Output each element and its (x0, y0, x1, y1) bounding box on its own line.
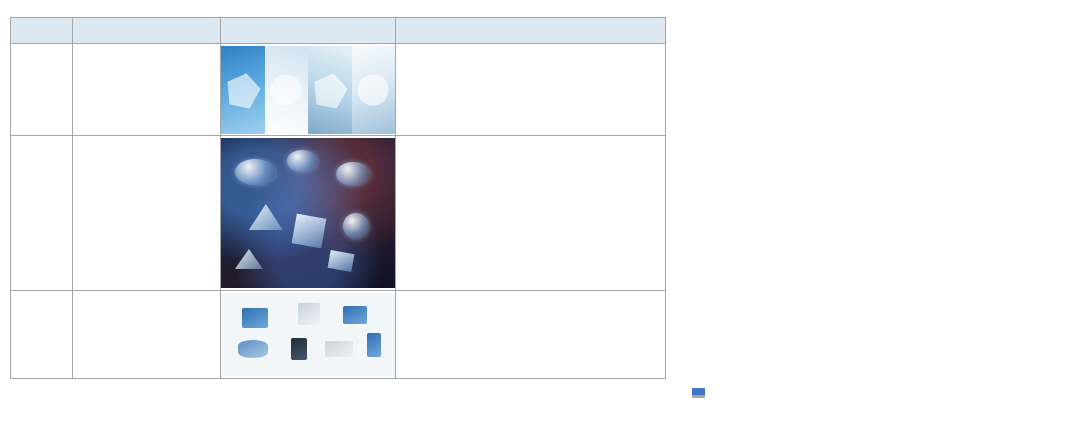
bar-chart-legend (692, 388, 709, 398)
legend-item (692, 388, 709, 395)
cell-product (73, 136, 221, 291)
column-header-category (11, 18, 73, 44)
cell-product (73, 44, 221, 136)
table-header-row (11, 18, 666, 44)
cell-use (396, 44, 666, 136)
cell-use (396, 291, 666, 379)
cell-category (11, 136, 73, 291)
legend-swatch-revenue-icon (692, 388, 705, 395)
table-row (11, 291, 666, 379)
revenue-profit-bar-chart (672, 180, 1080, 430)
table-row (11, 136, 666, 291)
cell-product (73, 291, 221, 379)
product-table (10, 17, 666, 379)
cell-use (396, 136, 666, 291)
cell-image (221, 136, 396, 291)
column-header-image (221, 18, 396, 44)
column-header-product (73, 18, 221, 44)
table-row (11, 44, 666, 136)
legend-swatch-yoy-icon (692, 395, 705, 398)
crystal-products-photo (221, 46, 395, 134)
report-page (0, 0, 1080, 430)
cell-image (221, 291, 396, 379)
cell-category (11, 44, 73, 136)
donut-svg (672, 0, 1080, 190)
charts-pane (672, 0, 1080, 430)
cell-category (11, 291, 73, 379)
cell-image (221, 44, 396, 136)
column-header-use (396, 18, 666, 44)
precision-optics-photo (221, 138, 395, 288)
laser-devices-photo (221, 293, 395, 377)
product-table-pane (0, 0, 672, 430)
revenue-breakdown-donut-chart (672, 0, 1080, 190)
legend-item (692, 395, 709, 398)
table-title (0, 0, 672, 9)
bar-chart-svg (672, 180, 1080, 430)
